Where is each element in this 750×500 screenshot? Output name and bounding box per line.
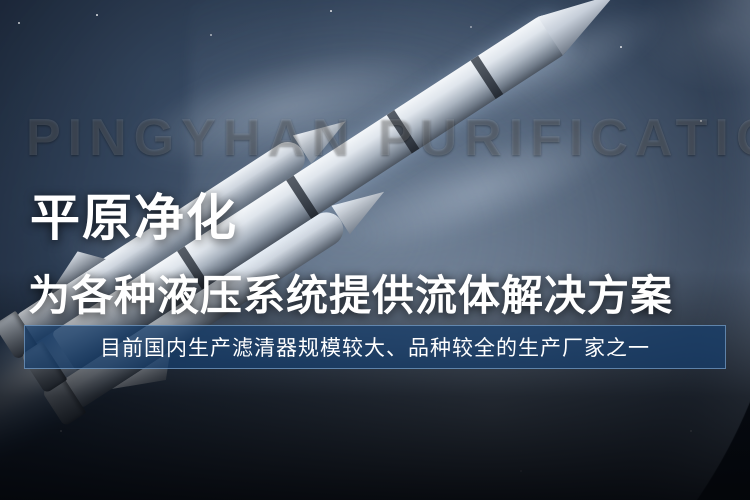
tagline-text: 目前国内生产滤清器规模较大、品种较全的生产厂家之一 [100, 332, 650, 362]
star-icon [18, 22, 20, 24]
brand-headline: 平原净化 [30, 178, 238, 250]
star-icon [210, 34, 212, 36]
star-icon [470, 26, 472, 28]
star-icon [96, 14, 98, 16]
star-icon [620, 46, 622, 48]
star-icon [330, 10, 332, 12]
brand-subline: 为各种液压系统提供流体解决方案 [28, 262, 673, 323]
tagline-bar: 目前国内生产滤清器规模较大、品种较全的生产厂家之一 [24, 325, 726, 369]
watermark-pinyin-text: PINGYHAN PURIFICATION [26, 108, 750, 168]
hero-banner: PINGYHAN PURIFICATION 平原净化 为各种液压系统提供流体解决… [0, 0, 750, 500]
